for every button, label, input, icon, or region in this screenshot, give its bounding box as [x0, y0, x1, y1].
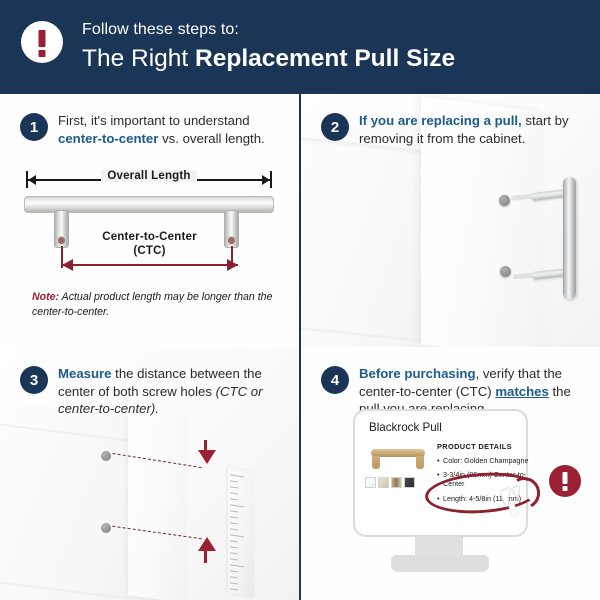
step-1-heading: 1 First, it's important to understand ce…: [20, 112, 289, 147]
monitor-illustration: Blackrock Pull PRODUCT DETAILS: [353, 409, 543, 584]
screw-hole-top: [499, 195, 510, 206]
note-text: Actual product length may be longer than…: [32, 291, 272, 318]
measure-arrow-down-icon: [198, 450, 216, 464]
swatch-4[interactable]: [404, 477, 415, 488]
cabinet-face-3: [128, 389, 186, 600]
headline-bold: Replacement Pull Size: [195, 45, 455, 72]
header-text-block: Follow these steps to: The Right Replace…: [82, 20, 455, 74]
swatch-2[interactable]: [378, 477, 389, 488]
steps-grid: 1 First, it's important to understand ce…: [0, 92, 600, 600]
step-3-text: Measure the distance between the center …: [58, 365, 289, 418]
step-number-4: 4: [321, 366, 349, 394]
monitor-neck: [415, 537, 463, 557]
product-image: [367, 445, 429, 471]
step-number-2: 2: [321, 113, 349, 141]
step-2-highlight: If you are replacing a pull,: [359, 113, 522, 128]
step-1-note: Note: Actual product length may be longe…: [32, 290, 277, 320]
infographic-root: Follow these steps to: The Right Replace…: [0, 0, 600, 600]
ctc-arrow-left-icon: [62, 259, 73, 271]
note-label: Note:: [32, 291, 59, 303]
ctc-label-line1: Center-to-Center: [52, 230, 247, 244]
screw-hole-upper: [101, 451, 111, 461]
alert-exclamation-bar: [563, 472, 568, 484]
bar-pull-diagram: Overall Length Center-to-Center (CTC): [18, 170, 280, 275]
headline-light: The Right: [82, 45, 195, 72]
overall-length-text: Overall Length: [101, 170, 196, 182]
swatch-3[interactable]: [391, 477, 402, 488]
step-2-text: If you are replacing a pull, start by re…: [359, 112, 590, 147]
screw-hole-lower: [101, 523, 111, 533]
step-panel-4: 4 Before purchasing, verify that the cen…: [301, 347, 600, 600]
step-3-highlight: Measure: [58, 366, 112, 381]
ctc-line: [62, 264, 238, 266]
page-title: The Right Replacement Pull Size: [82, 44, 455, 74]
cabinet-door-inset-3: [0, 420, 138, 600]
step-1-text: First, it's important to understand cent…: [58, 112, 289, 147]
alert-exclamation-icon: [549, 465, 581, 497]
step-4-highlight: Before purchasing: [359, 366, 476, 381]
step-1-text-part2: vs. overall length.: [158, 131, 264, 146]
step-4-link-matches[interactable]: matches: [495, 384, 549, 399]
measure-arrow-up-icon: [198, 537, 216, 551]
product-details-heading: PRODUCT DETAILS: [437, 442, 529, 451]
header-kicker: Follow these steps to:: [82, 20, 455, 40]
ctc-label: Center-to-Center (CTC): [52, 230, 247, 258]
monitor-base: [391, 555, 489, 572]
step-panel-3: 3 Measure the distance between the cente…: [0, 347, 299, 600]
measure-arrow-stem-bottom: [204, 551, 207, 563]
step-1-text-part1: First, it's important to understand: [58, 113, 250, 128]
step-number-1: 1: [20, 113, 48, 141]
product-handle-leg-left: [372, 456, 380, 469]
product-detail-color: Color: Golden Champagne: [437, 456, 529, 465]
step-number-3: 3: [20, 366, 48, 394]
ctc-label-line2: (CTC): [52, 244, 247, 258]
monitor-screen: Blackrock Pull PRODUCT DETAILS: [353, 409, 528, 537]
step-1-highlight: center-to-center: [58, 131, 158, 146]
pull-bar-handle: [563, 177, 576, 299]
step-2-heading: 2 If you are replacing a pull, start by …: [321, 112, 590, 147]
ctc-arrow-right-icon: [227, 259, 238, 271]
screw-hole-bottom: [500, 266, 511, 277]
cabinet-door-inset: [301, 133, 425, 343]
ruler: [228, 468, 254, 597]
exclamation-icon: [21, 21, 63, 63]
product-title: Blackrock Pull: [369, 421, 442, 434]
exclamation-dot: [39, 50, 46, 57]
step-panel-2: 2 If you are replacing a pull, start by …: [301, 94, 600, 347]
finish-swatches[interactable]: [365, 477, 415, 488]
overall-length-label: Overall Length: [18, 170, 280, 182]
swatch-1[interactable]: [365, 477, 376, 488]
product-handle-leg-right: [416, 456, 424, 469]
step-3-heading: 3 Measure the distance between the cente…: [20, 365, 289, 418]
step-panel-1: 1 First, it's important to understand ce…: [0, 94, 299, 347]
header-banner: Follow these steps to: The Right Replace…: [0, 0, 600, 92]
alert-exclamation-dot: [563, 486, 568, 491]
exclamation-bar: [39, 30, 46, 47]
